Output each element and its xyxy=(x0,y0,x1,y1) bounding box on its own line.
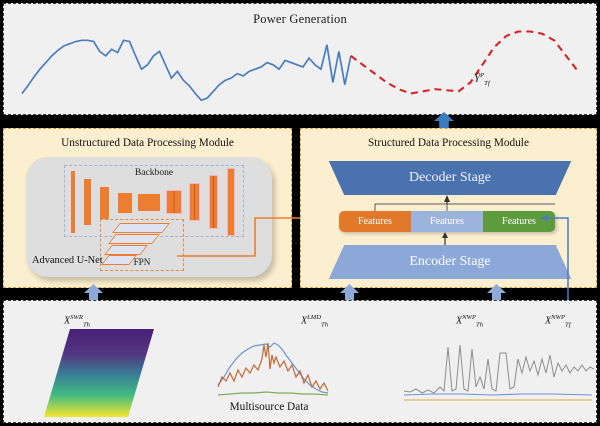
features-label-2: Features xyxy=(430,216,464,227)
unet-bar-2 xyxy=(84,179,91,225)
features-box-encoder: Features xyxy=(411,211,483,232)
power-generation-panel: Power Generation ŶPTf xyxy=(3,3,597,115)
input-label-nwp-hist: XNWPTh xyxy=(456,314,483,328)
prediction-label: ŶPTf xyxy=(474,72,490,87)
features-label-3: Features xyxy=(502,216,536,227)
unet-bar-5 xyxy=(166,190,182,214)
multisource-data-label: Multisource Data xyxy=(184,401,354,413)
unet-bar-1 xyxy=(71,171,75,233)
unstructured-module-title: Unstructured Data Processing Module xyxy=(4,137,291,149)
decoder-stage: Decoder Stage xyxy=(321,161,579,195)
arrow-encoder-to-features xyxy=(439,232,451,246)
structured-module-title: Structured Data Processing Module xyxy=(301,137,596,149)
power-generation-chart xyxy=(4,4,596,114)
connector-future-nwp-to-features xyxy=(532,210,598,310)
decoder-stage-label: Decoder Stage xyxy=(321,161,579,195)
unet-bottleneck-bar xyxy=(138,194,160,211)
unet-bar-3 xyxy=(100,187,109,219)
multisource-data-panel: XSWRTh XLMDTh XNWPTh XNWPT xyxy=(3,300,597,423)
historical-power-line xyxy=(22,40,351,100)
swr-heatmap-stack xyxy=(36,327,176,419)
features-box-unstructured: Features xyxy=(339,211,411,232)
fpn-label: FPN xyxy=(100,257,184,267)
advanced-unet-label: Advanced U-Net xyxy=(32,255,103,266)
features-label-1: Features xyxy=(358,216,392,227)
unstructured-data-processing-module: Unstructured Data Processing Module Back… xyxy=(3,128,292,288)
fpn-sheet-2 xyxy=(108,234,160,244)
unet-bar-4 xyxy=(118,193,132,213)
fpn-sheet-1 xyxy=(112,223,170,233)
nwp-timeseries-chart xyxy=(402,337,594,405)
input-label-lmd: XLMDTh xyxy=(301,314,328,328)
forecast-power-line xyxy=(351,32,578,94)
input-label-nwp-future: XNWPTf xyxy=(545,314,571,328)
lmd-timeseries-chart xyxy=(216,337,334,399)
